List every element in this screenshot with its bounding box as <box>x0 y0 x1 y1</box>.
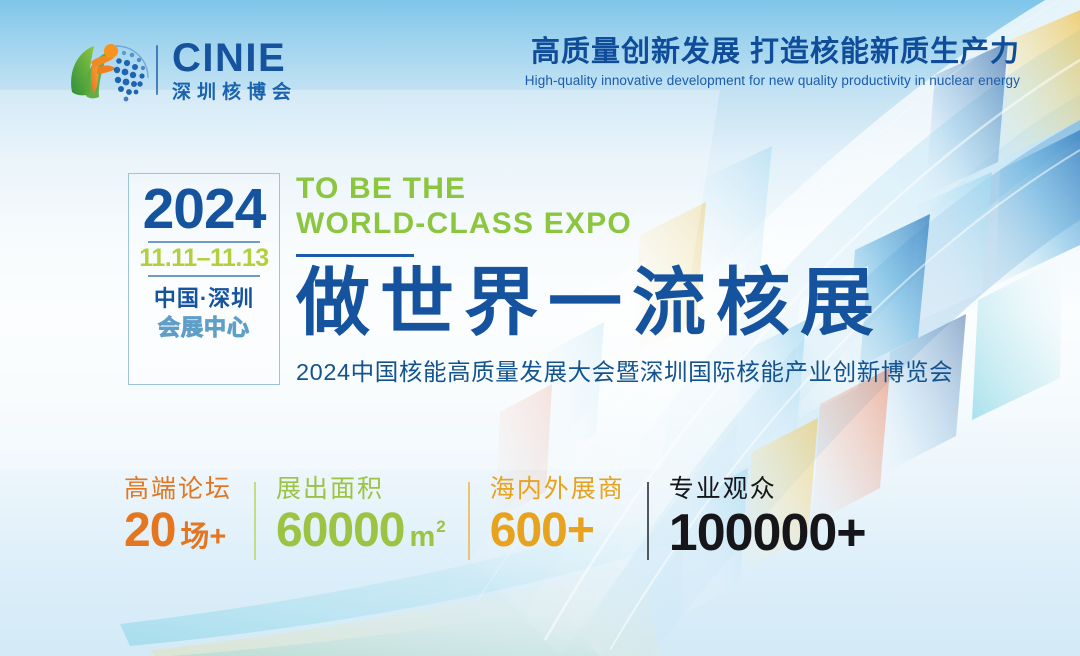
stat-unit: m <box>410 522 436 552</box>
english-headline-line1: TO BE THE <box>296 172 953 207</box>
date-rule-bottom <box>148 275 260 277</box>
stat-value: 600+ <box>490 506 599 556</box>
header-slogan: 高质量创新发展 打造核能新质生产力 High-quality innovativ… <box>525 36 1020 88</box>
cinie-emblem-icon <box>64 34 150 106</box>
logo-divider <box>156 45 158 95</box>
statistics-row: 高端论坛 20 场+ 展出面积 60000 m 2 海内外展商 600+ <box>124 476 893 560</box>
stat-value: 20 场+ <box>124 506 226 556</box>
stat-label: 高端论坛 <box>124 476 232 504</box>
stat-label: 专业观众 <box>669 476 777 504</box>
stat-value: 100000+ <box>669 506 871 561</box>
logo-brand-text: CINIE <box>172 38 297 78</box>
stat-number: 20 <box>124 506 175 556</box>
event-year: 2024 <box>143 182 266 236</box>
logo-wordmark: CINIE 深圳核博会 <box>172 38 297 102</box>
slogan-chinese: 高质量创新发展 打造核能新质生产力 <box>525 36 1020 69</box>
stat-exhibitors: 海内外展商 600+ <box>468 476 647 556</box>
stat-unit: 场+ <box>180 522 226 552</box>
main-title-block: TO BE THE WORLD-CLASS EXPO 做世界一流核展 2024中… <box>296 172 953 387</box>
stat-label: 海内外展商 <box>490 476 625 504</box>
chinese-subtitle: 2024中国核能高质量发展大会暨深圳国际核能产业创新博览会 <box>296 353 953 387</box>
date-rule-top <box>148 241 260 243</box>
date-venue-box: 2024 11.11–11.13 中国·深圳 会展中心 <box>128 173 280 385</box>
event-venue: 会展中心 <box>158 314 250 343</box>
stat-high-end-forum: 高端论坛 20 场+ <box>124 476 254 556</box>
expo-banner: CINIE 深圳核博会 高质量创新发展 打造核能新质生产力 High-quali… <box>0 0 1080 656</box>
stat-professional-visitors: 专业观众 100000+ <box>647 476 893 560</box>
stat-value: 60000 m 2 <box>276 506 446 556</box>
stat-number: 600+ <box>490 506 594 556</box>
stat-superscript: 2 <box>436 518 445 536</box>
stat-label: 展出面积 <box>276 476 384 504</box>
stat-number: 60000 <box>276 506 404 556</box>
english-headline-line2: WORLD-CLASS EXPO <box>296 207 953 242</box>
slogan-english: High-quality innovative development for … <box>525 73 1020 88</box>
stat-divider <box>254 482 256 560</box>
banner-header: CINIE 深圳核博会 高质量创新发展 打造核能新质生产力 High-quali… <box>0 32 1080 108</box>
cinie-logo[interactable]: CINIE 深圳核博会 <box>64 32 297 108</box>
stat-exhibition-area: 展出面积 60000 m 2 <box>254 476 468 556</box>
stat-divider <box>468 482 470 560</box>
event-date-range: 11.11–11.13 <box>139 245 268 273</box>
english-headline: TO BE THE WORLD-CLASS EXPO <box>296 172 953 242</box>
title-rule <box>296 254 414 257</box>
event-city: 中国·深圳 <box>154 285 254 313</box>
stat-divider <box>647 482 649 560</box>
chinese-headline: 做世界一流核展 <box>296 263 953 343</box>
logo-brand-cn-text: 深圳核博会 <box>172 83 297 102</box>
stat-number: 100000+ <box>669 506 866 561</box>
